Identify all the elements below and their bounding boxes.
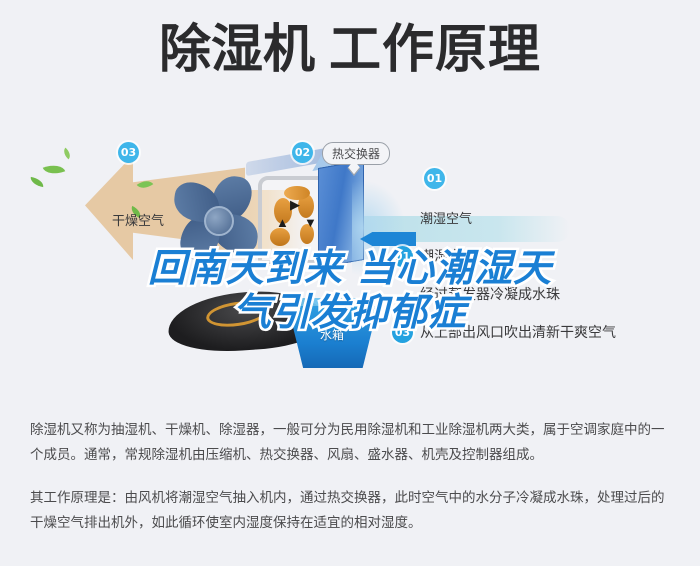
flow-arrow-right-icon: ▶ xyxy=(290,198,300,211)
fan-hub xyxy=(204,206,234,236)
body-paragraph-1: 除湿机又称为抽湿机、干燥机、除湿器，一般可分为民用除湿机和工业除湿机两大类，属于… xyxy=(30,418,675,468)
body-paragraph-2: 其工作原理是：由风机将潮湿空气抽入机内，通过热交换器，此时空气中的水分子冷凝成水… xyxy=(30,486,675,536)
water-tank-label: 水箱 xyxy=(302,326,362,343)
step-text-02: 经过蒸发器冷凝成水珠 xyxy=(420,284,560,304)
body-copy: 除湿机又称为抽湿机、干燥机、除湿器，一般可分为民用除湿机和工业除湿机两大类，属于… xyxy=(30,418,675,536)
dehumidifier-diagram: ▶ ▲ ▼ 水箱 03 干燥空气 02 热交换器 01 潮湿空气 01 潮湿空气 xyxy=(0,120,700,410)
steps-list: 01 潮湿空气 02 经过蒸发器冷凝成水珠 03 从上部出风口吹出清新干爽空气 xyxy=(392,244,692,358)
flow-arrow-down-icon: ▼ xyxy=(304,216,317,229)
callout-label-moist-air: 潮湿空气 xyxy=(420,208,472,227)
callout-badge-01: 01 xyxy=(424,168,445,189)
callout-badge-02: 02 xyxy=(292,142,313,163)
page-title: 除湿机工作原理 xyxy=(0,24,700,76)
step-text-01: 潮湿空气 xyxy=(420,246,476,266)
step-badge-01: 01 xyxy=(392,246,413,267)
flow-arrow-up-icon: ▲ xyxy=(276,216,289,229)
step-badge-03: 03 xyxy=(392,322,413,343)
fan-illustration xyxy=(168,168,268,268)
leaf-icon xyxy=(61,148,73,160)
copper-coil xyxy=(270,228,290,246)
leaf-icon xyxy=(29,177,44,187)
infographic-page: 除湿机工作原理 ▶ ▲ ▼ xyxy=(0,0,700,566)
title-part-1: 除湿机 xyxy=(159,20,315,80)
callout-label-dry-air: 干燥空气 xyxy=(112,210,164,229)
step-item: 02 经过蒸发器冷凝成水珠 xyxy=(392,282,692,320)
step-item: 03 从上部出风口吹出清新干爽空气 xyxy=(392,320,692,358)
step-item: 01 潮湿空气 xyxy=(392,244,692,282)
leaf-icon xyxy=(43,161,66,178)
title-text: 除湿机工作原理 xyxy=(159,24,541,76)
title-part-2: 工作原理 xyxy=(329,20,541,80)
callout-bubble-heat-exchanger: 热交换器 xyxy=(322,142,390,165)
step-text-03: 从上部出风口吹出清新干爽空气 xyxy=(420,322,616,342)
callout-badge-03: 03 xyxy=(118,142,139,163)
